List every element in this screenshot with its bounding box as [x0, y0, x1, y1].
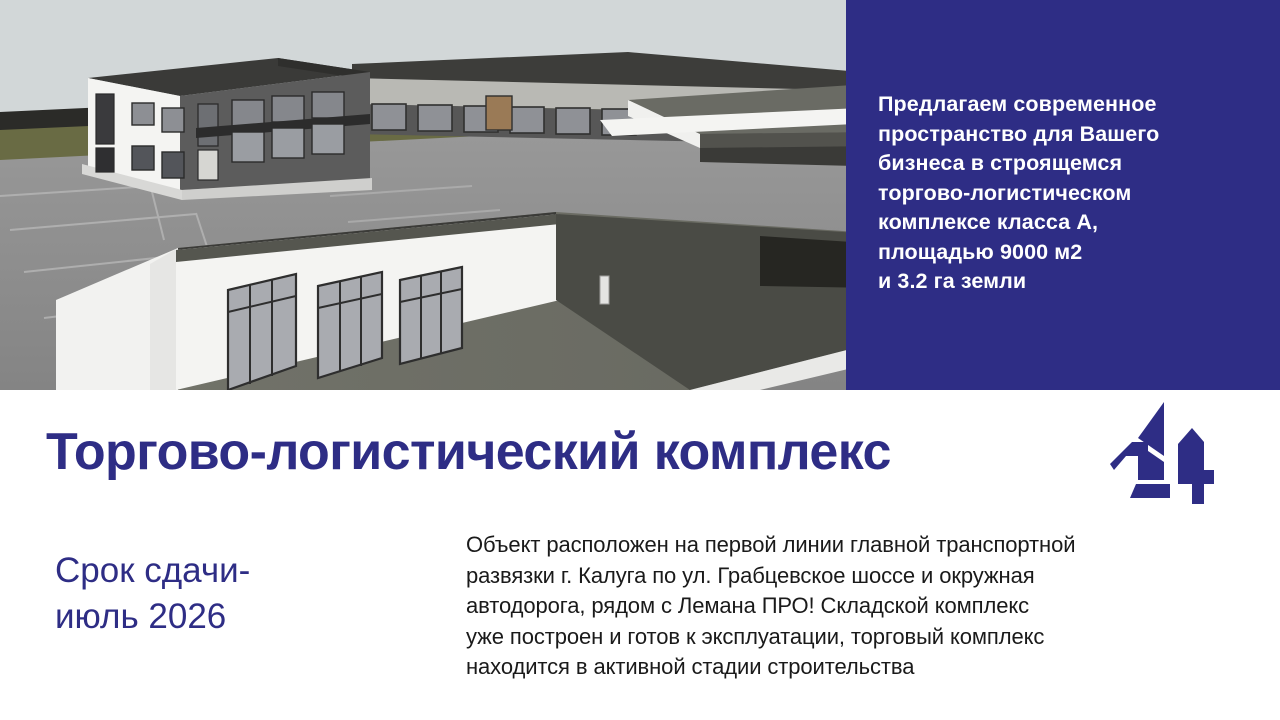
description-text: Объект расположен на первой линии главно…	[466, 530, 1266, 683]
title-row: Торгово-логистический комплекс	[0, 390, 1280, 510]
a4-logo	[1108, 398, 1234, 504]
deadline-text: Срок сдачи- июль 2026	[55, 548, 385, 640]
a4-monogram-icon	[1108, 398, 1234, 504]
offer-panel: Предлагаем современное пространство для …	[846, 0, 1280, 390]
building-render-hero: Предлагаем современное пространство для …	[0, 0, 1280, 390]
page-title: Торгово-логистический комплекс	[46, 424, 891, 480]
offer-panel-text: Предлагаем современное пространство для …	[878, 90, 1262, 297]
promo-slide: Предлагаем современное пространство для …	[0, 0, 1280, 720]
